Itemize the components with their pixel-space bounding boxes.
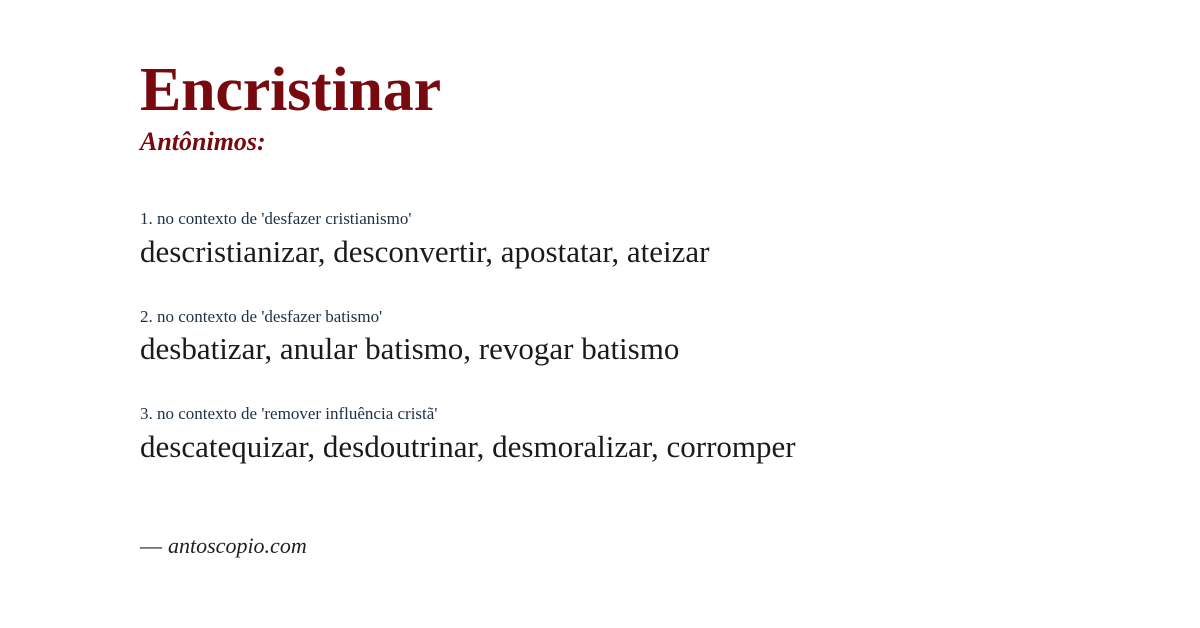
em-dash-icon: — bbox=[140, 533, 162, 558]
source-attribution: —antoscopio.com bbox=[140, 533, 307, 559]
entry-context-1: 1. no contexto de 'desfazer cristianismo… bbox=[140, 208, 1140, 230]
section-label-antonyms: Antônimos: bbox=[140, 128, 1140, 157]
page-title: Encristinar bbox=[140, 58, 1140, 122]
entry-terms-3: descatequizar, desdoutrinar, desmoraliza… bbox=[140, 428, 1140, 467]
entry-context-3: 3. no contexto de 'remover influência cr… bbox=[140, 403, 1140, 425]
entry-terms-2: desbatizar, anular batismo, revogar bati… bbox=[140, 330, 1140, 369]
card-footer: —antoscopio.com bbox=[140, 533, 307, 559]
list-item: 2. no contexto de 'desfazer batismo' des… bbox=[140, 306, 1140, 370]
entry-context-2: 2. no contexto de 'desfazer batismo' bbox=[140, 306, 1140, 328]
list-item: 3. no contexto de 'remover influência cr… bbox=[140, 403, 1140, 467]
card-header: Encristinar Antônimos: bbox=[140, 58, 1140, 157]
list-item: 1. no contexto de 'desfazer cristianismo… bbox=[140, 208, 1140, 272]
entry-terms-1: descristianizar, desconvertir, apostatar… bbox=[140, 233, 1140, 272]
antonym-entry-list: 1. no contexto de 'desfazer cristianismo… bbox=[140, 208, 1140, 467]
source-name: antoscopio.com bbox=[168, 533, 307, 558]
antonym-card: Encristinar Antônimos: 1. no contexto de… bbox=[0, 0, 1200, 628]
